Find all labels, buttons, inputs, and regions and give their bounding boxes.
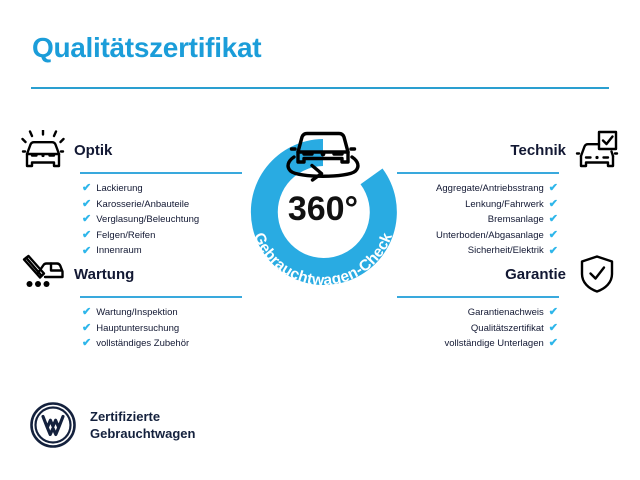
list-item: ✔Hauptuntersuchung xyxy=(20,321,245,337)
car-shine-icon xyxy=(20,129,66,171)
list-item-label: Garantienachweis xyxy=(468,305,544,321)
page-title: Qualitätszertifikat xyxy=(32,32,261,64)
list-item-label: Verglasung/Beleuchtung xyxy=(96,212,199,228)
list-item-label: vollständiges Zubehör xyxy=(96,336,189,352)
list-item: Lenkung/Fahrwerk✔ xyxy=(395,197,620,213)
section-wartung: Wartung ✔Wartung/Inspektion ✔Hauptunters… xyxy=(20,252,245,352)
section-divider xyxy=(397,172,559,174)
badge-360-gebrauchtwagen-check: 360° Gebrauchtwagen-Check xyxy=(232,112,414,304)
list-item-label: Qualitätszertifikat xyxy=(471,321,544,337)
list-item: ✔Karosserie/Anbauteile xyxy=(20,197,245,213)
footer-line-2: Gebrauchtwagen xyxy=(90,425,195,442)
title-divider xyxy=(31,87,609,89)
badge-center-label: 360° xyxy=(288,190,358,228)
check-icon: ✔ xyxy=(82,323,91,334)
check-icon: ✔ xyxy=(549,214,558,225)
list-item-label: Lackierung xyxy=(96,181,142,197)
checklist-technik: Aggregate/Antriebsstrang✔ Lenkung/Fahrwe… xyxy=(395,181,620,259)
section-title: Optik xyxy=(66,142,245,159)
section-header: Garantie xyxy=(395,252,620,296)
car-checkbox-icon xyxy=(574,129,620,171)
list-item: Qualitätszertifikat✔ xyxy=(395,321,620,337)
list-item-label: Hauptuntersuchung xyxy=(96,321,179,337)
certificate-page: Qualitätszertifikat Optik ✔Lackierung ✔K… xyxy=(0,0,640,480)
list-item: ✔Verglasung/Beleuchtung xyxy=(20,212,245,228)
check-icon: ✔ xyxy=(549,230,558,241)
list-item-label: Felgen/Reifen xyxy=(96,228,155,244)
check-icon: ✔ xyxy=(82,183,91,194)
shield-check-icon xyxy=(574,253,620,295)
list-item: ✔Lackierung xyxy=(20,181,245,197)
list-item: Bremsanlage✔ xyxy=(395,212,620,228)
footer-line-1: Zertifizierte xyxy=(90,408,195,425)
section-divider xyxy=(80,172,242,174)
list-item-label: Bremsanlage xyxy=(488,212,544,228)
check-icon: ✔ xyxy=(549,199,558,210)
check-icon: ✔ xyxy=(82,230,91,241)
vw-logo xyxy=(30,402,76,448)
list-item-label: Lenkung/Fahrwerk xyxy=(465,197,544,213)
section-header: Optik xyxy=(20,128,245,172)
check-icon: ✔ xyxy=(82,307,91,318)
section-title: Technik xyxy=(395,142,574,159)
section-header: Technik xyxy=(395,128,620,172)
list-item: ✔Wartung/Inspektion xyxy=(20,305,245,321)
section-header: Wartung xyxy=(20,252,245,296)
list-item: Unterboden/Abgasanlage✔ xyxy=(395,228,620,244)
section-optik: Optik ✔Lackierung ✔Karosserie/Anbauteile… xyxy=(20,128,245,259)
list-item: vollständige Unterlagen✔ xyxy=(395,336,620,352)
section-garantie: Garantie Garantienachweis✔ Qualitätszert… xyxy=(395,252,620,352)
check-icon: ✔ xyxy=(82,338,91,349)
check-icon: ✔ xyxy=(549,338,558,349)
section-title: Garantie xyxy=(395,266,574,283)
list-item-label: Wartung/Inspektion xyxy=(96,305,178,321)
check-icon: ✔ xyxy=(82,214,91,225)
footer-brand: Zertifizierte Gebrauchtwagen xyxy=(30,402,195,448)
check-icon: ✔ xyxy=(549,183,558,194)
list-item-label: Aggregate/Antriebsstrang xyxy=(436,181,544,197)
check-icon: ✔ xyxy=(549,307,558,318)
check-icon: ✔ xyxy=(82,199,91,210)
list-item-label: vollständige Unterlagen xyxy=(444,336,543,352)
section-divider xyxy=(80,296,242,298)
section-divider xyxy=(397,296,559,298)
section-title: Wartung xyxy=(66,266,245,283)
car-wrench-icon xyxy=(20,253,66,295)
checklist-wartung: ✔Wartung/Inspektion ✔Hauptuntersuchung ✔… xyxy=(20,305,245,352)
list-item: Aggregate/Antriebsstrang✔ xyxy=(395,181,620,197)
checklist-garantie: Garantienachweis✔ Qualitätszertifikat✔ v… xyxy=(395,305,620,352)
list-item: ✔vollständiges Zubehör xyxy=(20,336,245,352)
check-icon: ✔ xyxy=(549,323,558,334)
section-technik: Technik Aggregate/Antriebsstrang✔ Lenkun… xyxy=(395,128,620,259)
list-item: ✔Felgen/Reifen xyxy=(20,228,245,244)
list-item: Garantienachweis✔ xyxy=(395,305,620,321)
list-item-label: Unterboden/Abgasanlage xyxy=(436,228,544,244)
checklist-optik: ✔Lackierung ✔Karosserie/Anbauteile ✔Verg… xyxy=(20,181,245,259)
list-item-label: Karosserie/Anbauteile xyxy=(96,197,189,213)
footer-text: Zertifizierte Gebrauchtwagen xyxy=(90,408,195,442)
